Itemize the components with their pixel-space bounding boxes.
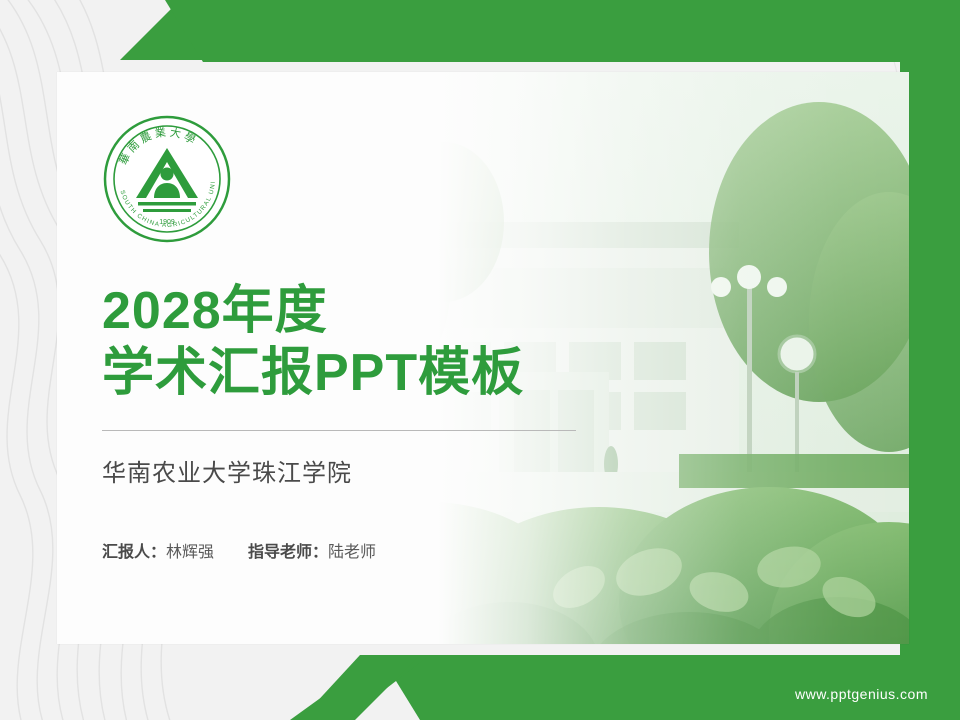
title-divider [102,430,576,431]
slide-subtitle: 华南农业大学珠江学院 [102,453,622,488]
presenter-label: 汇报人： [102,544,166,561]
advisor-name: 陆老师 [328,544,376,561]
university-logo-icon: 華 南 農 業 大 學 SOUTH CHINA AGRICULTURAL UNI… [102,114,232,244]
slide-title-line-2: 学术汇报PPT模板 [102,344,622,402]
presenter-meta-row: 汇报人：林辉强指导老师：陆老师 [102,538,622,562]
presentation-slide: 華 南 農 業 大 學 SOUTH CHINA AGRICULTURAL UNI… [0,0,960,720]
presenter-name: 林辉强 [166,544,214,561]
footer-website-url: www.pptgenius.com [795,686,928,702]
title-text-block: 2028年度 学术汇报PPT模板 华南农业大学珠江学院 汇报人：林辉强指导老师：… [102,282,622,562]
svg-text:1909: 1909 [159,219,175,226]
slide-content-card: 華 南 農 業 大 學 SOUTH CHINA AGRICULTURAL UNI… [57,72,909,644]
slide-title-line-1: 2028年度 [102,282,622,340]
advisor-label: 指导老师： [248,544,328,561]
